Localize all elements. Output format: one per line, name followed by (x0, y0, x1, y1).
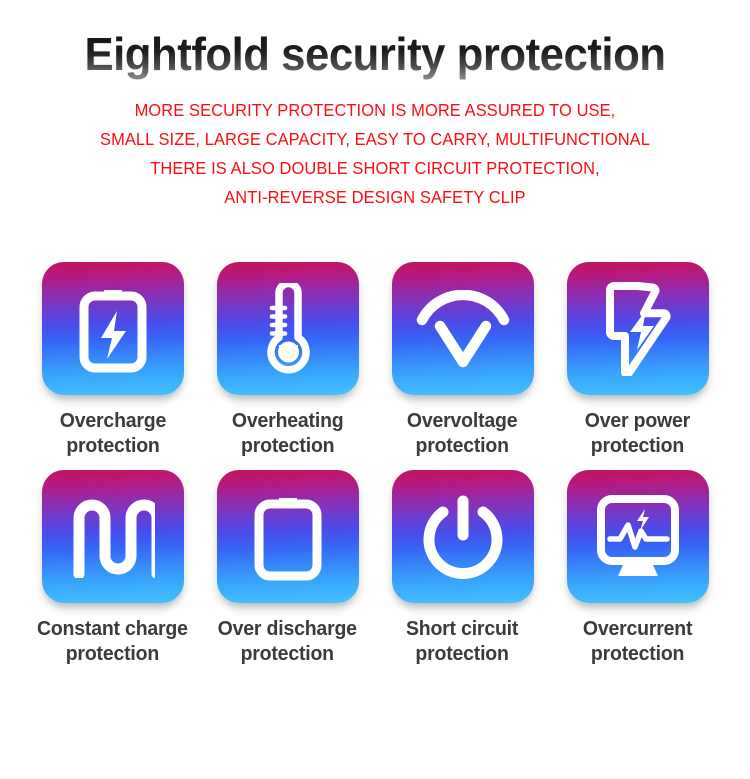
battery-empty-icon (249, 493, 327, 581)
battery-charging-icon (74, 285, 152, 373)
feature-label: Overvoltage protection (407, 408, 517, 458)
feature-label-line1: Overheating (232, 409, 344, 432)
feature-item-overheating: Overheating protection (200, 262, 375, 458)
feature-tile (392, 262, 534, 395)
feature-label-line2: protection (218, 641, 357, 666)
feature-tile (217, 470, 359, 603)
voltmeter-v-icon (415, 290, 511, 368)
subtitle-block: MORE SECURITY PROTECTION IS MORE ASSURED… (0, 96, 750, 212)
feature-label: Short circuit protection (406, 616, 518, 666)
double-lightning-bolt-icon (598, 282, 678, 376)
feature-tile (42, 262, 184, 395)
coil-serpentine-icon (71, 496, 155, 578)
subtitle-line-4: ANTI-REVERSE DESIGN SAFETY CLIP (23, 183, 728, 212)
feature-label: Over power protection (585, 408, 690, 458)
header: Eightfold security protection MORE SECUR… (0, 0, 750, 212)
feature-item-over-power: Over power protection (550, 262, 725, 458)
feature-label-line2: protection (407, 433, 517, 458)
feature-grid: Overcharge protection (0, 262, 750, 666)
feature-label-line1: Constant charge (37, 617, 188, 640)
feature-item-overvoltage: Overvoltage protection (375, 262, 550, 458)
feature-label-line2: protection (406, 641, 518, 666)
feature-item-constant-charge: Constant charge protection (25, 470, 200, 666)
feature-label-line2: protection (37, 641, 188, 666)
subtitle-line-3: THERE IS ALSO DOUBLE SHORT CIRCUIT PROTE… (23, 154, 728, 183)
page-title: Eightfold security protection (19, 30, 732, 80)
feature-label-line2: protection (585, 433, 690, 458)
thermometer-icon (248, 283, 328, 375)
feature-label-line1: Overcurrent (583, 617, 692, 640)
feature-tile (567, 470, 709, 603)
feature-tile (567, 262, 709, 395)
power-button-icon (419, 493, 507, 581)
feature-item-overcharge: Overcharge protection (25, 262, 200, 458)
feature-tile (392, 470, 534, 603)
feature-label-line2: protection (232, 433, 344, 458)
feature-label-line1: Overvoltage (407, 409, 517, 432)
oscilloscope-monitor-icon (593, 493, 683, 581)
feature-label: Overheating protection (232, 408, 344, 458)
feature-label-line1: Overcharge (59, 409, 165, 432)
feature-item-overcurrent: Overcurrent protection (550, 470, 725, 666)
feature-tile (217, 262, 359, 395)
feature-tile (42, 470, 184, 603)
feature-label-line2: protection (583, 641, 692, 666)
subtitle-line-2: SMALL SIZE, LARGE CAPACITY, EASY TO CARR… (23, 125, 728, 154)
feature-label: Overcharge protection (59, 408, 165, 458)
infographic-page: Eightfold security protection MORE SECUR… (0, 0, 750, 779)
feature-label-line1: Short circuit (406, 617, 518, 640)
feature-item-short-circuit: Short circuit protection (375, 470, 550, 666)
feature-label: Over discharge protection (218, 616, 357, 666)
feature-label-line2: protection (59, 433, 165, 458)
feature-label: Overcurrent protection (583, 616, 692, 666)
feature-label-line1: Over discharge (218, 617, 357, 640)
feature-label-line1: Over power (585, 409, 690, 432)
feature-item-over-discharge: Over discharge protection (200, 470, 375, 666)
feature-label: Constant charge protection (37, 616, 188, 666)
subtitle-line-1: MORE SECURITY PROTECTION IS MORE ASSURED… (23, 96, 728, 125)
